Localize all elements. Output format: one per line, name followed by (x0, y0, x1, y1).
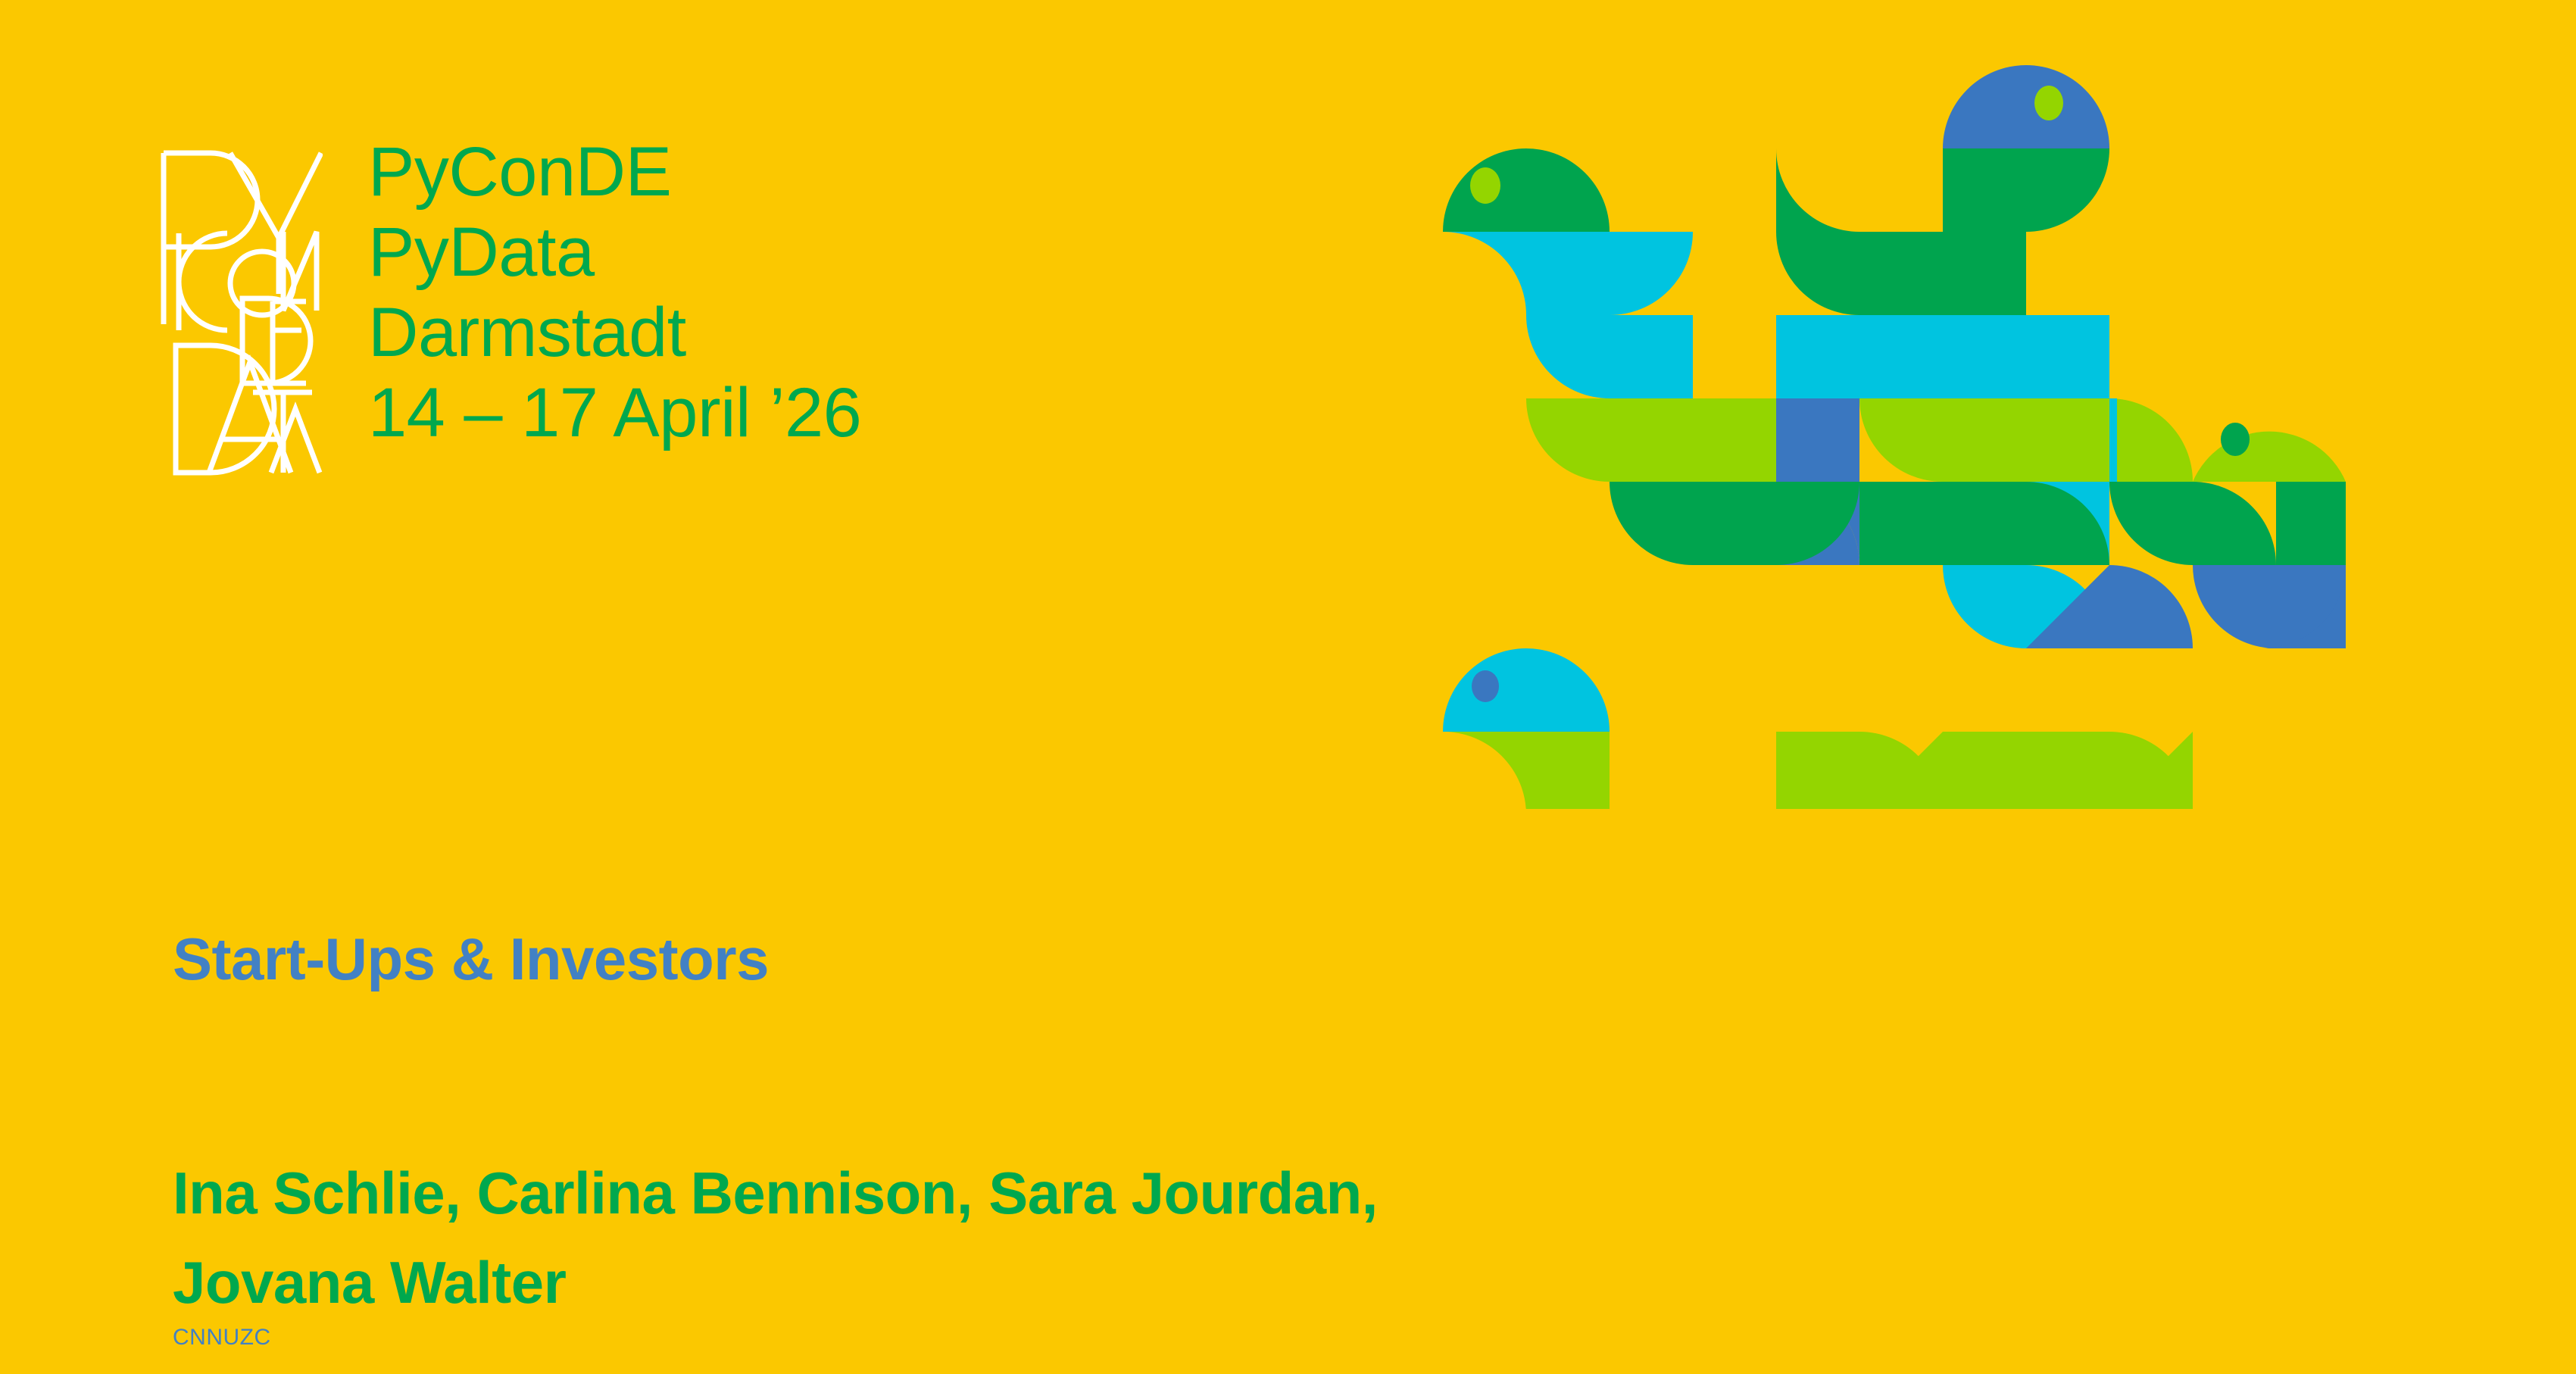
brand-line-dates: 14 – 17 April ’26 (368, 373, 861, 453)
brand-line-pyconde: PyConDE (368, 132, 861, 212)
speakers-list: Ina Schlie, Carlina Bennison, Sara Jourd… (173, 1148, 1991, 1327)
slide-root: PyConDE PyData Darmstadt 14 – 17 April ’… (0, 0, 2576, 1374)
speakers-line-2: Jovana Walter (173, 1238, 1991, 1327)
session-title: Start-Ups & Investors (173, 926, 769, 992)
session-code: CNNUZC (173, 1325, 271, 1351)
brand-block: PyConDE PyData Darmstadt 14 – 17 April ’… (158, 142, 861, 476)
brand-line-pydata: PyData (368, 212, 861, 292)
pyconde-pydata-logo-icon (158, 142, 323, 476)
bird-pattern-illustration (1437, 59, 2353, 809)
brand-wordmark: PyConDE PyData Darmstadt 14 – 17 April ’… (368, 132, 861, 453)
bird-pattern-final (1437, 59, 2353, 809)
brand-line-city: Darmstadt (368, 292, 861, 373)
bird-pattern-svg (1437, 59, 2353, 809)
speakers-line-1: Ina Schlie, Carlina Bennison, Sara Jourd… (173, 1148, 1991, 1238)
